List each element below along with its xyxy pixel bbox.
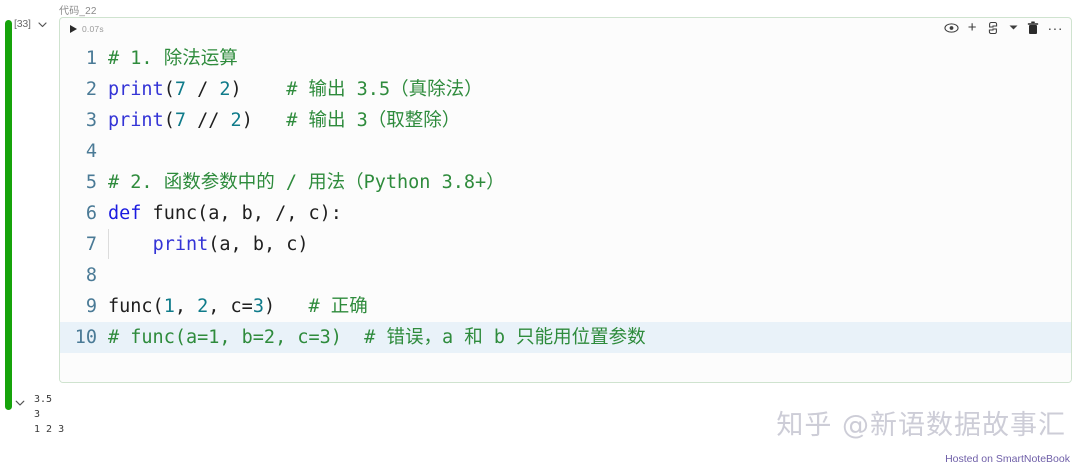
- code-line[interactable]: 6def func(a, b, /, c):: [60, 198, 1071, 229]
- run-duration-label: 0.07s: [82, 24, 104, 34]
- code-token: # 输出 3（取整除）: [286, 110, 460, 131]
- code-token: ): [231, 79, 242, 100]
- code-token: 7: [175, 110, 186, 131]
- chevron-down-icon[interactable]: [1009, 24, 1018, 31]
- code-token: [253, 110, 286, 131]
- run-cell-group[interactable]: 0.07s: [70, 24, 104, 34]
- collapse-cell-chevron-down-icon[interactable]: [37, 19, 48, 30]
- code-token: # func(a=1, b=2, c=3) # 错误，a 和 b 只能用位置参数: [108, 327, 646, 348]
- line-number: 9: [60, 291, 108, 322]
- code-token: # 2. 函数参数中的 / 用法（Python 3.8+）: [108, 172, 505, 193]
- code-token: print: [108, 79, 164, 100]
- code-cell: 0.07s + ···: [59, 17, 1072, 383]
- eye-icon[interactable]: [944, 22, 959, 34]
- cell-output: 3.531 2 3: [14, 392, 64, 437]
- cell-action-icons: + ···: [944, 20, 1063, 35]
- python-kernel-icon[interactable]: [986, 21, 1000, 35]
- code-token: print: [153, 234, 209, 255]
- code-token: 2: [197, 296, 208, 317]
- cell-execution-indicator: [5, 20, 12, 410]
- line-number: 10: [60, 322, 108, 353]
- more-options-icon[interactable]: ···: [1048, 21, 1064, 35]
- plus-icon[interactable]: +: [968, 20, 977, 35]
- line-number: 2: [60, 74, 108, 105]
- code-token: ): [264, 296, 275, 317]
- collapse-output-chevron-down-icon[interactable]: [14, 396, 26, 408]
- line-number: 8: [60, 260, 108, 291]
- code-line[interactable]: 8: [60, 260, 1071, 291]
- code-token: func(a, b, /, c):: [141, 203, 341, 224]
- line-number: 3: [60, 105, 108, 136]
- code-token: ): [242, 110, 253, 131]
- line-number: 7: [60, 229, 108, 260]
- code-editor[interactable]: 1# 1. 除法运算2print(7 / 2) # 输出 3.5（真除法）3pr…: [60, 40, 1071, 382]
- output-line: 3: [34, 407, 64, 422]
- line-source: func(1, 2, c=3) # 正确: [108, 291, 1071, 322]
- code-token: 2: [231, 110, 242, 131]
- code-token: 2: [219, 79, 230, 100]
- code-token: ,: [175, 296, 197, 317]
- code-token: [108, 234, 153, 255]
- code-line[interactable]: 4: [60, 136, 1071, 167]
- code-token: [275, 296, 308, 317]
- code-token: print: [108, 110, 164, 131]
- code-token: # 正确: [309, 296, 368, 317]
- line-number: 5: [60, 167, 108, 198]
- cell-name-label[interactable]: 代码_22: [59, 2, 97, 17]
- line-number: 6: [60, 198, 108, 229]
- line-source: print(a, b, c): [108, 229, 1071, 260]
- code-token: /: [186, 79, 219, 100]
- code-line[interactable]: 3print(7 // 2) # 输出 3（取整除）: [60, 105, 1071, 136]
- code-line[interactable]: 7 print(a, b, c): [60, 229, 1071, 260]
- hosted-by-label: Hosted on SmartNoteBook: [945, 453, 1070, 465]
- line-source: print(7 / 2) # 输出 3.5（真除法）: [108, 74, 1071, 105]
- code-token: (: [164, 110, 175, 131]
- line-number: 4: [60, 136, 108, 167]
- code-line[interactable]: 2print(7 / 2) # 输出 3.5（真除法）: [60, 74, 1071, 105]
- code-line[interactable]: 1# 1. 除法运算: [60, 43, 1071, 74]
- code-token: (a, b, c): [208, 234, 308, 255]
- code-token: //: [186, 110, 231, 131]
- code-token: func(: [108, 296, 164, 317]
- code-token: def: [108, 203, 141, 224]
- code-token: # 1. 除法运算: [108, 48, 238, 69]
- code-token: # 输出 3.5（真除法）: [286, 79, 482, 100]
- output-text: 3.531 2 3: [34, 392, 64, 437]
- line-source: print(7 // 2) # 输出 3（取整除）: [108, 105, 1071, 136]
- cell-gutter: [33]: [14, 18, 60, 30]
- cell-toolbar: 0.07s + ···: [60, 18, 1071, 40]
- code-token: 1: [164, 296, 175, 317]
- line-source: # func(a=1, b=2, c=3) # 错误，a 和 b 只能用位置参数: [108, 322, 1071, 353]
- code-token: 7: [175, 79, 186, 100]
- output-line: 1 2 3: [34, 422, 64, 437]
- play-icon[interactable]: [70, 25, 77, 33]
- code-token: 3: [253, 296, 264, 317]
- execution-count: [33]: [14, 18, 31, 30]
- code-token: , c=: [208, 296, 253, 317]
- line-source: # 1. 除法运算: [108, 43, 1071, 74]
- line-source: # 2. 函数参数中的 / 用法（Python 3.8+）: [108, 167, 1071, 198]
- code-token: (: [164, 79, 175, 100]
- line-source: def func(a, b, /, c):: [108, 198, 1071, 229]
- code-line[interactable]: 5# 2. 函数参数中的 / 用法（Python 3.8+）: [60, 167, 1071, 198]
- zhihu-watermark: 知乎 @新语数据故事汇: [776, 403, 1066, 442]
- output-line: 3.5: [34, 392, 64, 407]
- code-line[interactable]: 10# func(a=1, b=2, c=3) # 错误，a 和 b 只能用位置…: [60, 322, 1071, 353]
- code-line[interactable]: 9func(1, 2, c=3) # 正确: [60, 291, 1071, 322]
- trash-icon[interactable]: [1027, 21, 1039, 35]
- code-token: [242, 79, 287, 100]
- line-number: 1: [60, 43, 108, 74]
